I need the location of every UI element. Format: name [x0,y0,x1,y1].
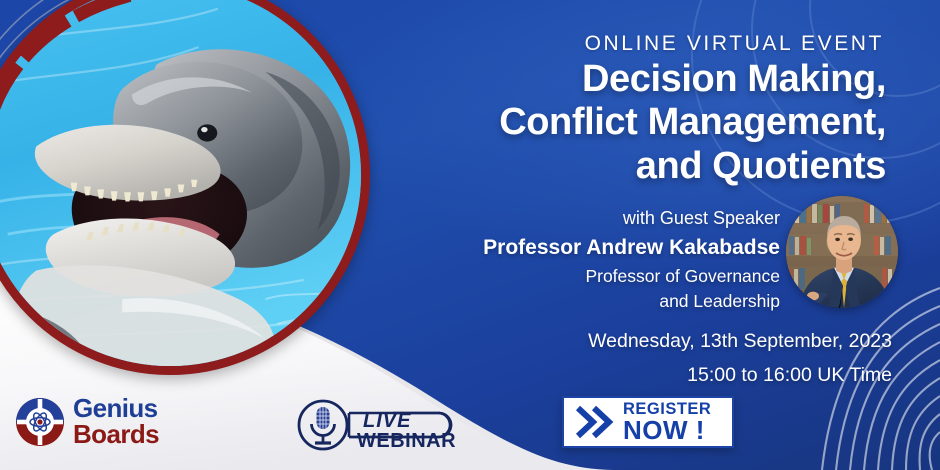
event-datetime: Wednesday, 13th September, 2023 15:00 to… [432,325,892,392]
register-now-button[interactable]: REGISTER NOW ! [562,396,734,448]
speaker-details: with Guest Speaker Professor Andrew Kaka… [360,205,780,314]
live-badge-line-1: LIVE [363,410,411,432]
event-time: 15:00 to 16:00 UK Time [432,359,892,393]
double-chevron-right-icon [574,405,614,439]
live-webinar-badge: LIVE WEBINAR [289,393,461,457]
speaker-headshot-photo [786,196,898,308]
microphone-icon [312,407,335,443]
speaker-intro: with Guest Speaker [360,205,780,232]
decorative-arcs-top-left [0,0,220,188]
title-line-3: and Quotients [366,145,886,188]
speaker-role-line-2: and Leadership [360,289,780,314]
event-date: Wednesday, 13th September, 2023 [432,325,892,359]
title-line-1: Decision Making, [366,58,886,101]
register-label-group: REGISTER NOW ! [623,401,711,443]
speaker-avatar [786,196,898,308]
atom-lifering-icon [14,396,66,448]
live-badge-line-2: WEBINAR [357,430,456,452]
title-line-2: Conflict Management, [366,101,886,144]
genius-boards-logo[interactable]: Genius Boards [14,396,159,448]
brand-word-boards: Boards [73,422,159,448]
register-label-line-2: NOW ! [623,417,711,443]
speaker-role-line-1: Professor of Governance [360,264,780,289]
webinar-promo-banner: ONLINE VIRTUAL EVENT Decision Making, Co… [0,0,940,470]
brand-wordmark: Genius Boards [73,396,159,447]
event-kicker: ONLINE VIRTUAL EVENT [585,32,884,56]
speaker-name: Professor Andrew Kakabadse [360,232,780,264]
event-title: Decision Making, Conflict Management, an… [366,58,886,188]
